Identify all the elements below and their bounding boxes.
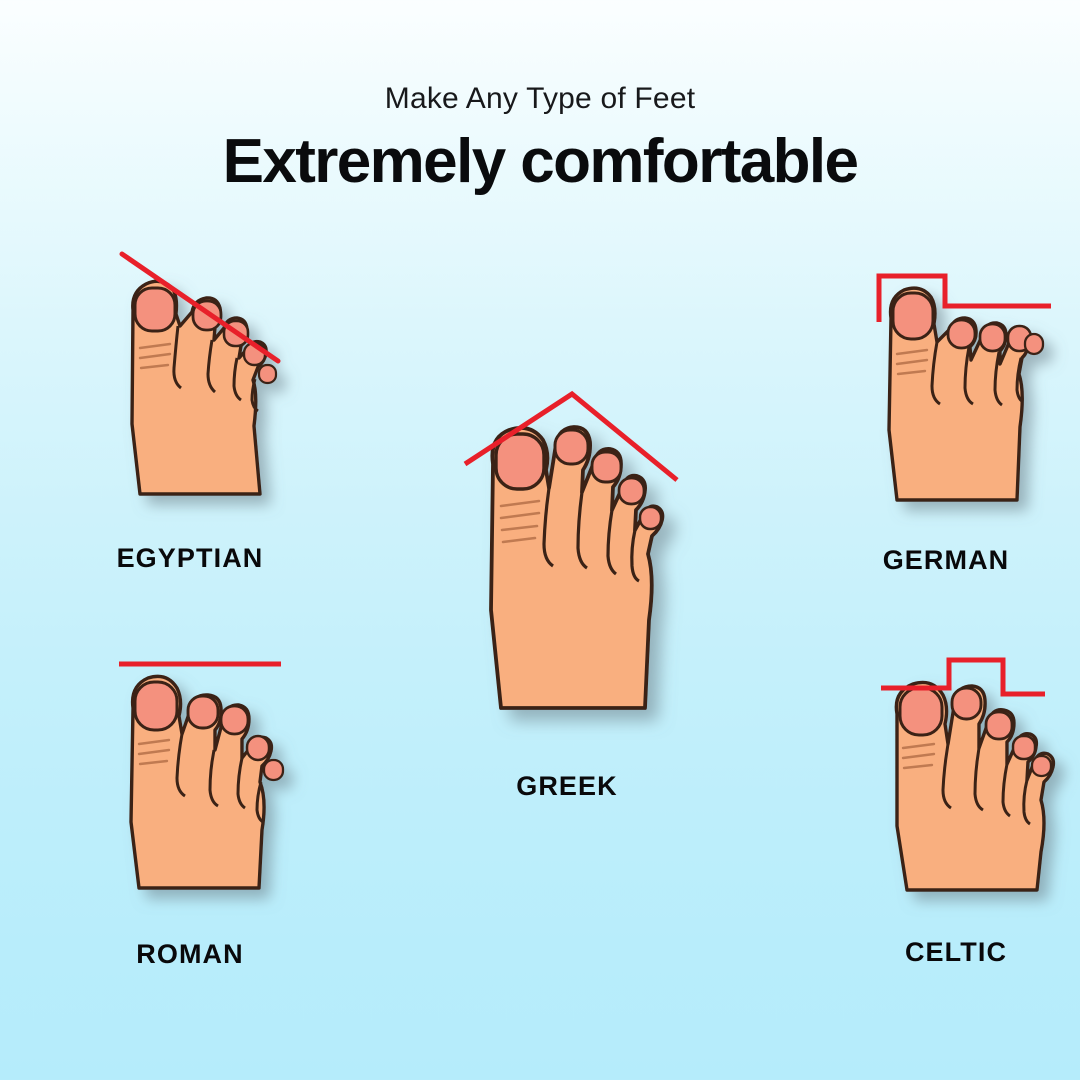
header: Make Any Type of Feet Extremely comforta… xyxy=(0,0,1080,193)
foot-card-roman: ROMAN xyxy=(40,650,340,968)
subtitle: Make Any Type of Feet xyxy=(0,84,1080,114)
foot-card-celtic: CELTIC xyxy=(816,648,1080,966)
foot-illustration-greek xyxy=(455,388,680,743)
foot-card-german: GERMAN xyxy=(806,262,1080,574)
foot-label-celtic: CELTIC xyxy=(816,939,1080,966)
foot-label-egyptian: EGYPTIAN xyxy=(40,545,340,572)
foot-label-german: GERMAN xyxy=(806,547,1080,574)
foot-shape xyxy=(491,427,662,708)
foot-shape xyxy=(131,676,283,888)
foot-card-egyptian: EGYPTIAN xyxy=(40,248,340,572)
foot-label-greek: GREEK xyxy=(412,773,722,800)
foot-illustration-german xyxy=(859,262,1034,527)
foot-illustration-celtic xyxy=(869,648,1044,913)
foot-shape xyxy=(889,288,1043,500)
foot-card-greek: GREEK xyxy=(412,388,722,800)
foot-illustration-roman xyxy=(103,650,278,915)
foot-label-roman: ROMAN xyxy=(40,941,340,968)
foot-illustration-egyptian xyxy=(98,248,283,523)
foot-shape xyxy=(896,682,1053,890)
page-title: Extremely comfortable xyxy=(0,131,1080,193)
